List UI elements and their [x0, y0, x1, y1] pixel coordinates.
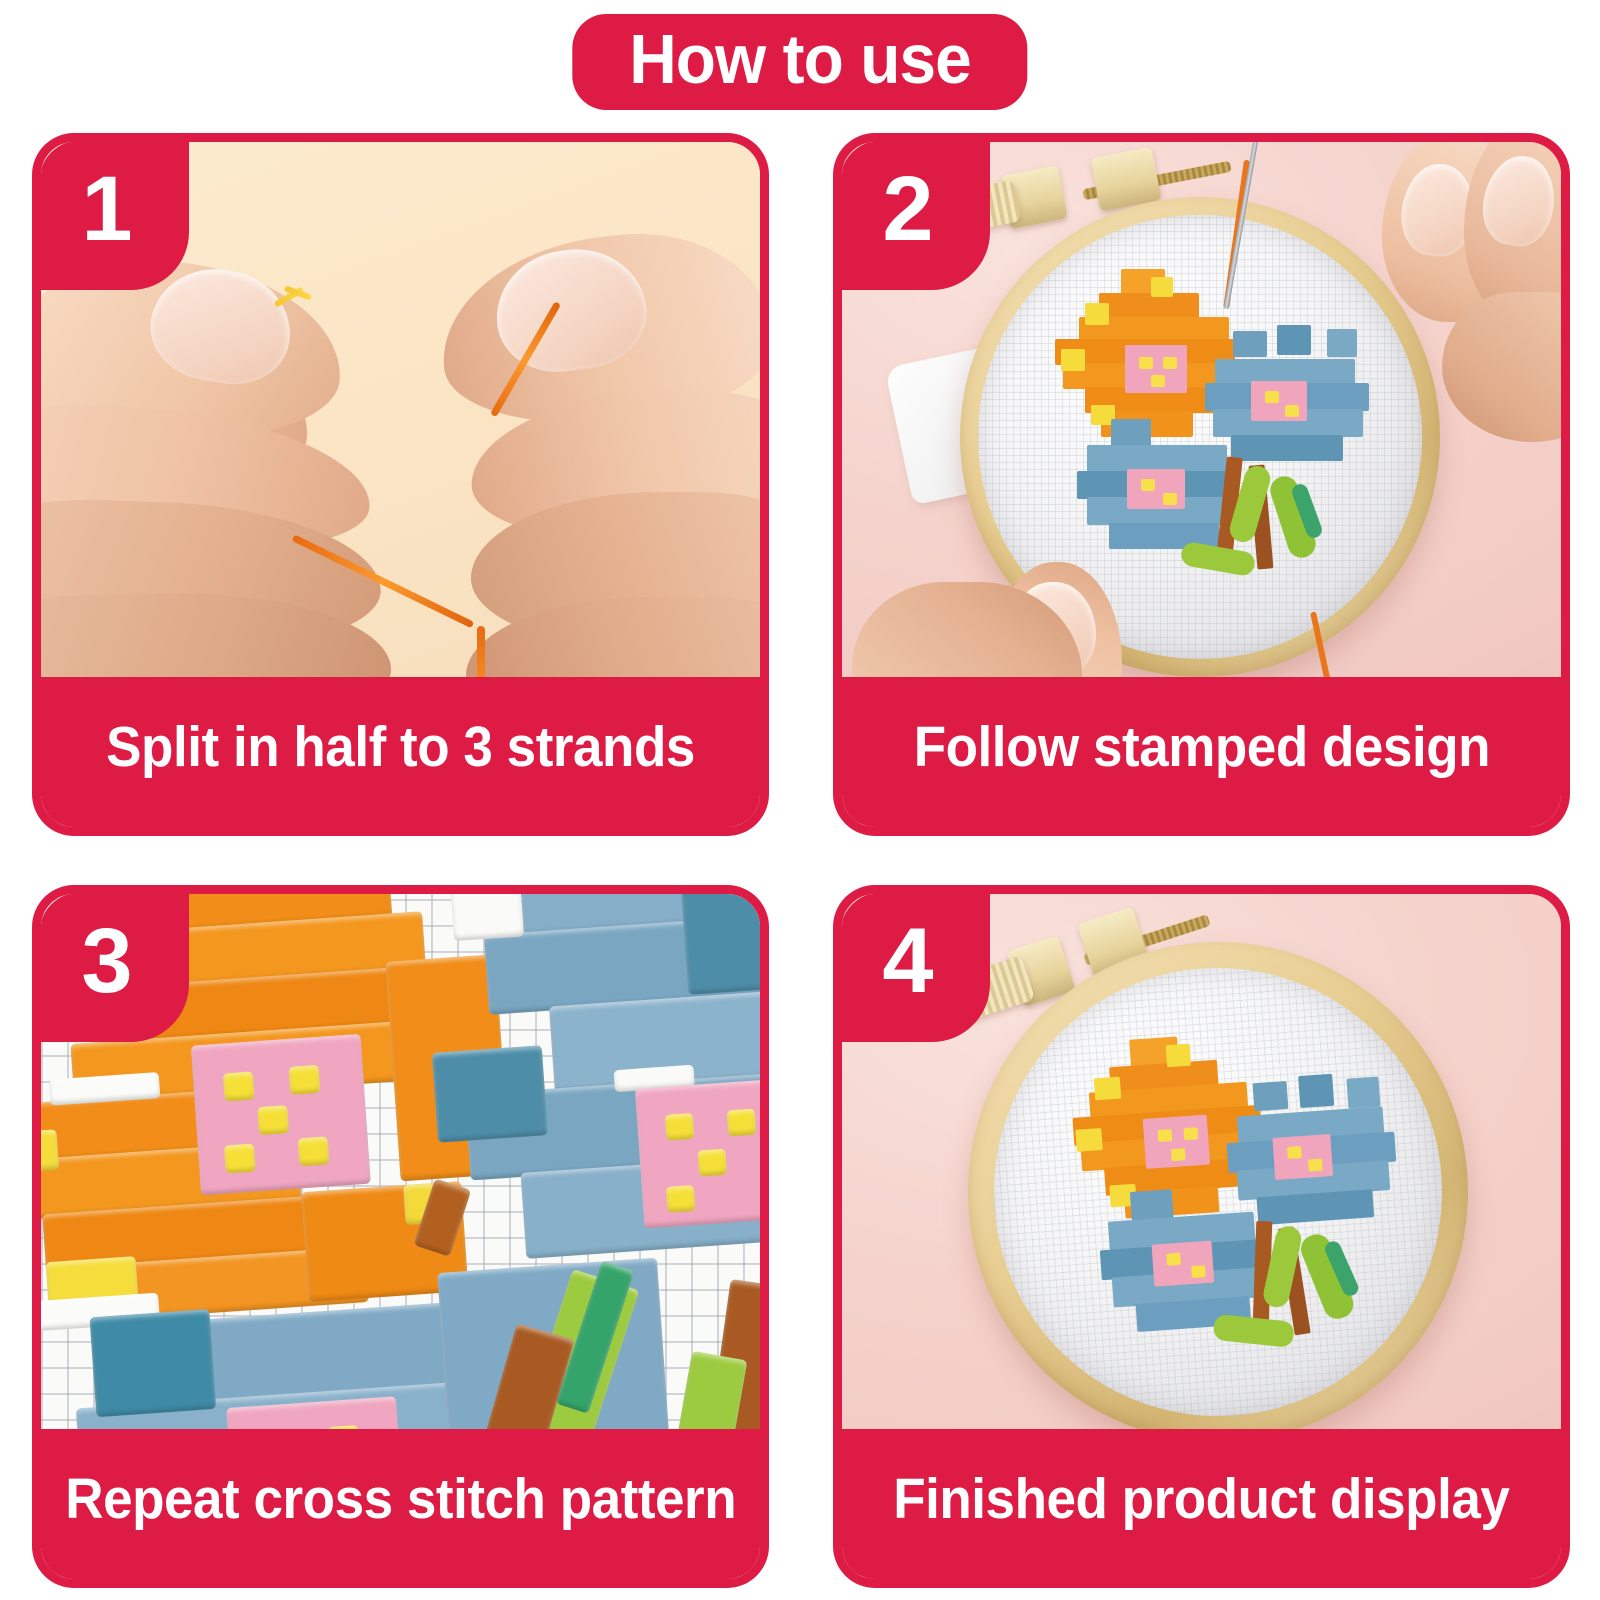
- step-number-badge-1: 1: [39, 140, 189, 290]
- blue-center-yellow: [1265, 391, 1279, 403]
- step-caption-text-2: Follow stamped design: [913, 719, 1489, 776]
- orange-highlight: [1151, 277, 1173, 297]
- blue-center-yellow: [1285, 405, 1299, 417]
- blue-center-pink-2: [1152, 1241, 1215, 1287]
- orange-petal: [1099, 293, 1199, 319]
- blue-center-yellow: [1308, 1159, 1323, 1172]
- yellow-center-dot: [223, 1071, 255, 1101]
- step-number-1: 1: [81, 163, 132, 255]
- orange-highlight: [1075, 1128, 1102, 1152]
- step-number-3: 3: [81, 915, 132, 1007]
- step-panel-3: 3 Repeat cross stitch pattern: [32, 885, 769, 1588]
- step-caption-text-1: Split in half to 3 strands: [106, 719, 695, 776]
- step-panel-1: 1 Split in half to 3 strands: [32, 133, 769, 836]
- yellow-center-dot: [257, 1105, 289, 1135]
- blue-dark-stitch: [432, 1045, 548, 1142]
- yellow-center-dot: [697, 1149, 727, 1177]
- step-number-badge-3: 3: [39, 892, 189, 1042]
- steps-grid: 1 Split in half to 3 strands: [32, 133, 1570, 1588]
- blue-dark-stitch: [680, 894, 760, 995]
- stitch-design: [1055, 269, 1375, 599]
- step-caption-2: Follow stamped design: [842, 677, 1561, 827]
- flower-center-yellow: [1158, 1129, 1173, 1142]
- blue-center-yellow: [1287, 1146, 1302, 1159]
- blue-petal: [1233, 331, 1267, 357]
- orange-highlight: [1166, 1044, 1191, 1068]
- flower-center-yellow: [1139, 357, 1153, 369]
- yellow-stitch-block: [41, 1129, 59, 1173]
- page-title: How to use: [629, 24, 971, 94]
- orange-highlight: [1094, 1077, 1121, 1101]
- blue-center-pink: [1272, 1134, 1333, 1180]
- flower-center-yellow: [1151, 375, 1165, 387]
- blue-petal: [1277, 325, 1311, 355]
- blue-petal: [1346, 1077, 1380, 1109]
- infographic-page: How to use: [0, 0, 1600, 1600]
- blue-petal: [1231, 435, 1343, 461]
- orange-highlight: [1061, 349, 1085, 371]
- yellow-center-dot: [666, 1185, 696, 1213]
- step-number-badge-2: 2: [840, 140, 990, 290]
- step-caption-3: Repeat cross stitch pattern: [41, 1429, 760, 1579]
- step-caption-1: Split in half to 3 strands: [41, 677, 760, 827]
- green-leaf: [1179, 541, 1256, 577]
- blue-petal: [1327, 329, 1357, 357]
- step-number-badge-4: 4: [840, 892, 990, 1042]
- step-panel-4: 4 Finished product display: [833, 885, 1570, 1588]
- step-panel-2: 2 Follow stamped design: [833, 133, 1570, 836]
- blue-petal: [1298, 1074, 1334, 1108]
- blue-petal-2: [1111, 419, 1151, 447]
- white-gap-stitch: [448, 894, 524, 941]
- page-title-badge: How to use: [572, 14, 1027, 110]
- blue-dark-stitch: [90, 1309, 217, 1417]
- flower-center-yellow: [1183, 1127, 1198, 1140]
- orange-highlight: [1085, 303, 1109, 325]
- blue-center-yellow-2: [1191, 1265, 1206, 1278]
- blue-petal: [1253, 1081, 1289, 1111]
- flower-center-yellow: [1171, 1148, 1186, 1161]
- blue-center-yellow-2: [1166, 1253, 1181, 1266]
- yellow-center-dot: [224, 1144, 256, 1174]
- yellow-center-dot: [665, 1113, 695, 1141]
- yellow-center-dot: [727, 1109, 757, 1137]
- yellow-center-dot: [289, 1065, 321, 1095]
- blue-center-yellow-2: [1163, 493, 1177, 505]
- yellow-center-dot: [298, 1136, 330, 1166]
- step-number-4: 4: [882, 915, 933, 1007]
- green-leaf: [1213, 1314, 1295, 1348]
- flower-center-yellow: [1163, 357, 1177, 369]
- step-caption-text-4: Finished product display: [893, 1471, 1509, 1528]
- step-caption-text-3: Repeat cross stitch pattern: [65, 1471, 736, 1528]
- embroidery-hoop: [951, 925, 1485, 1447]
- blue-center-yellow-2: [1141, 479, 1155, 491]
- step-number-2: 2: [882, 163, 933, 255]
- step-caption-4: Finished product display: [842, 1429, 1561, 1579]
- stitch-design: [1067, 1022, 1409, 1374]
